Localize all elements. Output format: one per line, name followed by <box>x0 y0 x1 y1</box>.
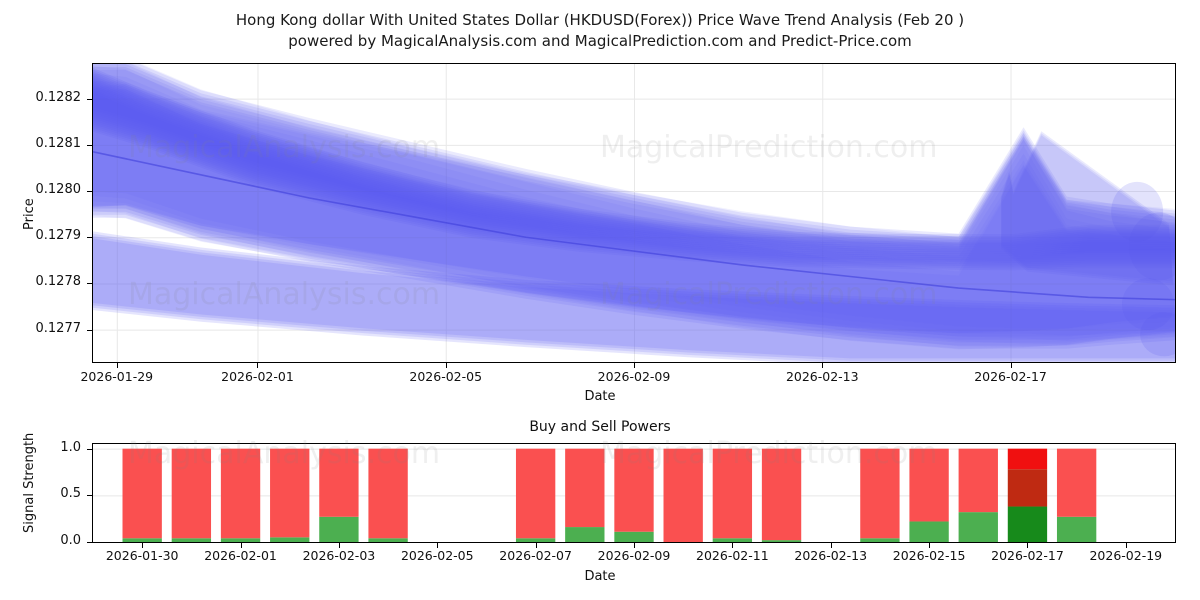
signal-bar-sell <box>909 449 948 522</box>
signal-bar-sell <box>713 449 752 539</box>
signal-bar-sell <box>319 449 358 517</box>
chart-page: Hong Kong dollar With United States Doll… <box>0 0 1200 600</box>
price-x-tick-label: 2026-02-01 <box>197 369 317 384</box>
price-wave-plot-area <box>92 63 1176 363</box>
signal-bar-highlight-segment <box>1008 449 1047 470</box>
signal-x-tick-mark <box>437 543 438 548</box>
signal-x-tick-mark <box>241 543 242 548</box>
signal-bar-buy <box>270 537 309 542</box>
signal-plot-area <box>92 443 1176 543</box>
signal-bar-buy <box>762 540 801 542</box>
price-y-tick-label: 0.1281 <box>0 136 81 151</box>
price-x-tick-label: 2026-02-17 <box>951 369 1071 384</box>
signal-x-tick-mark <box>732 543 733 548</box>
page-title-line-1: Hong Kong dollar With United States Doll… <box>0 10 1200 31</box>
signal-bar-buy <box>1057 517 1096 542</box>
signal-x-tick-mark <box>536 543 537 548</box>
price-x-tick-mark <box>257 363 258 368</box>
price-y-tick-label: 0.1280 <box>0 182 81 197</box>
signal-bar-sell <box>1057 449 1096 517</box>
signal-x-tick-mark <box>634 543 635 548</box>
page-title: Hong Kong dollar With United States Doll… <box>0 10 1200 52</box>
price-x-tick-label: 2026-01-29 <box>57 369 177 384</box>
signal-bar-buy <box>860 538 899 542</box>
page-title-line-2: powered by MagicalAnalysis.com and Magic… <box>0 31 1200 52</box>
price-x-tick-mark <box>1011 363 1012 368</box>
signal-bar-buy <box>909 521 948 542</box>
signal-bar-buy <box>123 538 162 542</box>
signal-bar-buy <box>565 527 604 542</box>
signal-bar-buy <box>516 538 555 542</box>
signal-bar-sell <box>959 449 998 512</box>
signal-bar-buy <box>319 517 358 542</box>
signal-y-tick-label: 0.0 <box>0 533 81 548</box>
signal-x-tick-mark <box>831 543 832 548</box>
signal-x-axis-label: Date <box>0 569 1200 584</box>
price-y-tick-label: 0.1277 <box>0 321 81 336</box>
signal-bar-sell <box>221 449 260 539</box>
price-x-tick-mark <box>634 363 635 368</box>
signal-x-tick-mark <box>142 543 143 548</box>
price-y-tick-label: 0.1282 <box>0 90 81 105</box>
price-x-tick-mark <box>822 363 823 368</box>
signal-bar-buy <box>368 538 407 542</box>
price-x-axis-label: Date <box>0 389 1200 404</box>
signal-x-tick-mark <box>1126 543 1127 548</box>
signal-x-tick-mark <box>1027 543 1028 548</box>
signal-bar-buy <box>959 512 998 542</box>
signal-x-tick-mark <box>339 543 340 548</box>
signal-bar-sell <box>516 449 555 539</box>
price-x-tick-label: 2026-02-05 <box>386 369 506 384</box>
price-x-tick-label: 2026-02-13 <box>762 369 882 384</box>
signal-bar-buy <box>614 532 653 542</box>
signal-bar-sell <box>123 449 162 539</box>
price-wave-svg <box>93 64 1175 362</box>
signal-bar-buy <box>172 538 211 542</box>
signal-bar-highlight-segment <box>1008 469 1047 506</box>
signal-y-tick-label: 1.0 <box>0 440 81 455</box>
price-y-tick-label: 0.1278 <box>0 274 81 289</box>
signal-bar-sell <box>565 449 604 527</box>
signal-bar-sell <box>172 449 211 539</box>
signal-bar-buy <box>221 538 260 542</box>
signal-bar-sell <box>614 449 653 532</box>
signal-bars-svg <box>93 444 1175 542</box>
signal-chart-title: Buy and Sell Powers <box>0 419 1200 435</box>
price-y-tick-label: 0.1279 <box>0 228 81 243</box>
signal-x-tick-label: 2026-02-19 <box>1066 548 1186 563</box>
price-x-tick-mark <box>446 363 447 368</box>
signal-x-tick-mark <box>929 543 930 548</box>
signal-bar-sell <box>270 449 309 538</box>
price-y-axis-label: Price <box>22 198 37 230</box>
signal-y-tick-label: 0.5 <box>0 486 81 501</box>
price-x-tick-label: 2026-02-09 <box>574 369 694 384</box>
signal-bar-sell <box>762 449 801 540</box>
signal-bar-sell <box>368 449 407 539</box>
signal-bar-buy <box>713 538 752 542</box>
signal-bar-sell <box>664 449 703 542</box>
price-x-tick-mark <box>117 363 118 368</box>
signal-bar-sell <box>860 449 899 539</box>
signal-bar-highlight-segment <box>1008 507 1047 542</box>
